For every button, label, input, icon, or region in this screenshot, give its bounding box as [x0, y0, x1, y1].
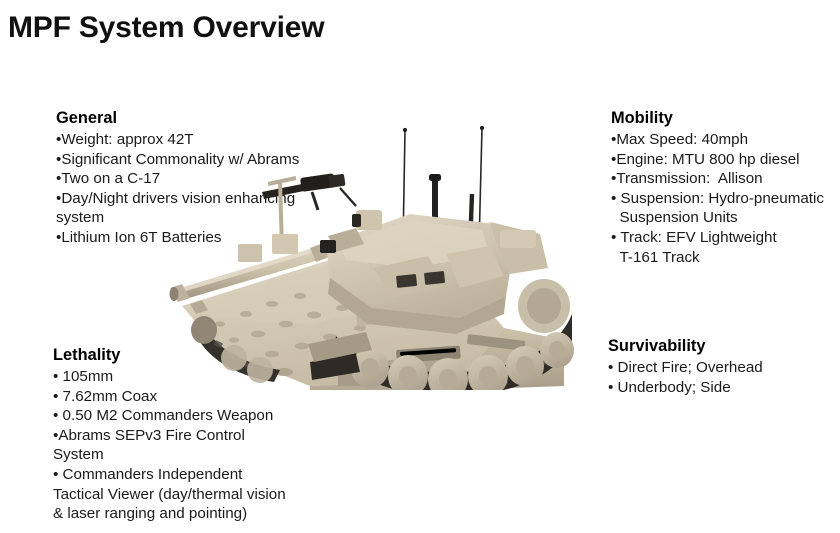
- road-wheel-hub: [516, 356, 534, 376]
- gunners-sight-lens: [320, 240, 336, 253]
- list-item: System: [53, 445, 363, 465]
- rear-running-gear: [518, 279, 570, 333]
- tank-illustration: [160, 118, 592, 390]
- block-list-survivability: • Direct Fire; Overhead • Underbody; Sid…: [608, 358, 838, 397]
- turret-stowage-bin: [272, 234, 298, 254]
- info-block-mobility: Mobility •Max Speed: 40mph •Engine: MTU …: [611, 108, 840, 267]
- citv-lens: [352, 214, 361, 227]
- list-item: T-161 Track: [611, 248, 840, 268]
- turret-side-bin: [238, 244, 262, 262]
- block-list-lethality: • 105mm • 7.62mm Coax • 0.50 M2 Commande…: [53, 367, 363, 524]
- idler-wheel-rear-hub: [527, 288, 561, 324]
- list-item: •Engine: MTU 800 hp diesel: [611, 150, 840, 170]
- drive-sprocket: [191, 316, 217, 344]
- road-wheel-hub: [549, 341, 565, 359]
- tank-svg: [160, 118, 592, 390]
- m2-mount-arm: [340, 188, 356, 206]
- vision-block-right-icon: [424, 271, 445, 285]
- mast-sensor-head: [429, 174, 441, 181]
- m2-ammo-box: [328, 174, 346, 188]
- block-heading-mobility: Mobility: [611, 108, 840, 129]
- list-item: •Max Speed: 40mph: [611, 130, 840, 150]
- list-item: • Track: EFV Lightweight: [611, 228, 840, 248]
- antenna-left-tip: [403, 128, 407, 132]
- road-wheel-hub: [479, 366, 497, 386]
- list-item: Tactical Viewer (day/thermal vision: [53, 485, 363, 505]
- info-block-survivability: Survivability • Direct Fire; Overhead • …: [608, 336, 838, 397]
- list-item: •Abrams SEPv3 Fire Control: [53, 426, 363, 446]
- road-wheel-hub: [439, 369, 457, 389]
- list-item: Suspension Units: [611, 208, 840, 228]
- list-item: • Commanders Independent: [53, 465, 363, 485]
- block-heading-survivability: Survivability: [608, 336, 838, 357]
- list-item: & laser ranging and pointing): [53, 504, 363, 524]
- block-list-mobility: •Max Speed: 40mph •Engine: MTU 800 hp di…: [611, 130, 840, 267]
- list-item: •Transmission: Allison: [611, 169, 840, 189]
- list-item: • Underbody; Side: [608, 378, 838, 398]
- road-wheel-hub: [399, 366, 417, 386]
- m2-mount-post: [312, 192, 318, 210]
- road-wheel-hub: [361, 358, 379, 378]
- list-item: • Direct Fire; Overhead: [608, 358, 838, 378]
- list-item: • 0.50 M2 Commanders Weapon: [53, 406, 363, 426]
- list-item: • Suspension: Hydro-pneumatic: [611, 189, 840, 209]
- m2-barrel: [262, 184, 304, 199]
- vision-block-left-icon: [396, 274, 417, 288]
- bustle-stowage-box: [500, 230, 536, 248]
- gun-muzzle-face: [170, 287, 179, 301]
- slide-canvas: MPF System Overview General •Weight: app…: [0, 0, 840, 533]
- page-title: MPF System Overview: [8, 11, 324, 45]
- antenna-right-tip: [480, 126, 484, 130]
